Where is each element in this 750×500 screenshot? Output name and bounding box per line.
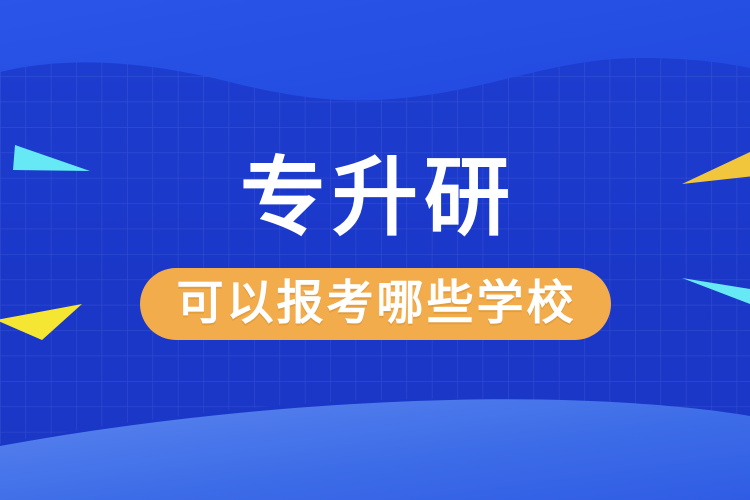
headline-container: 专升研 [0,150,750,246]
pill-container: 可以报考哪些学校 [0,268,750,340]
promo-banner: 专升研 可以报考哪些学校 [0,0,750,500]
page-title: 专升研 [234,150,516,246]
background-bottom-wave [0,0,750,500]
subtitle-pill: 可以报考哪些学校 [140,268,611,340]
